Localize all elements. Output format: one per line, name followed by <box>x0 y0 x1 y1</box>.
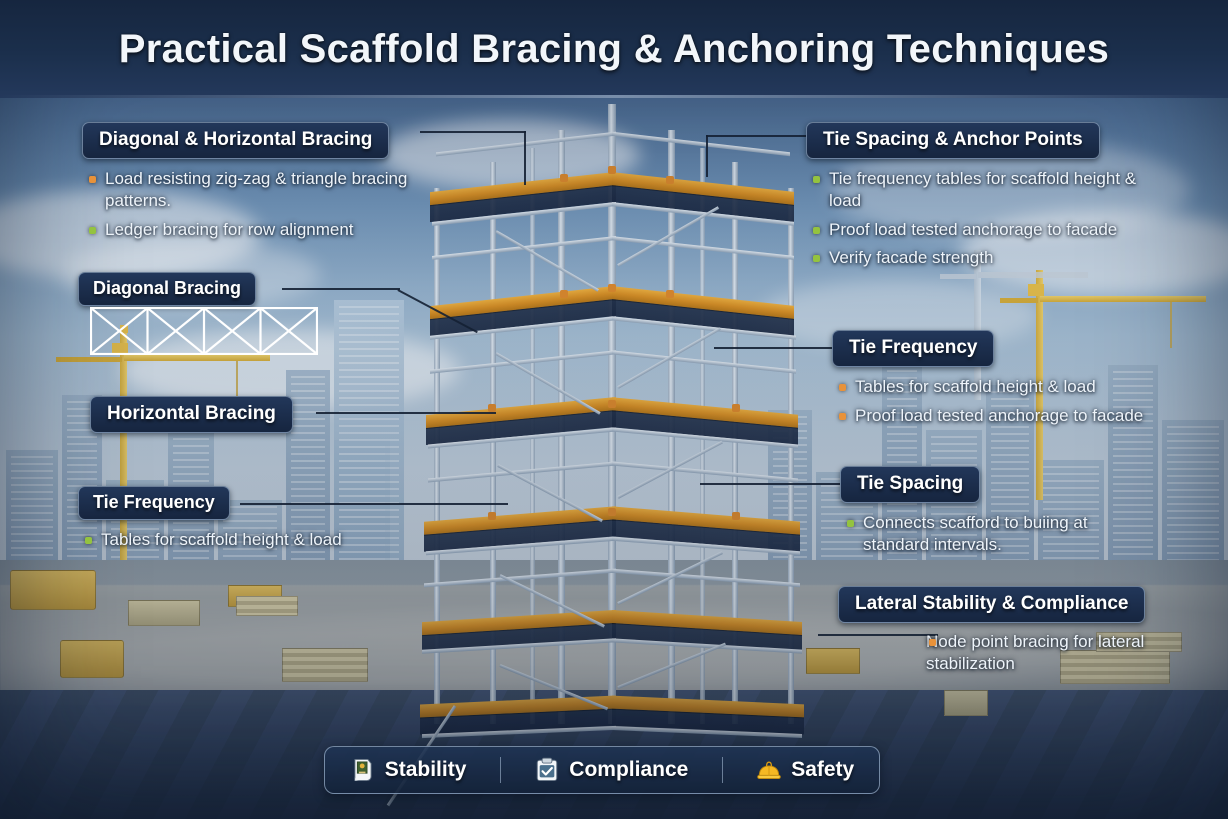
callout-tie-spacing[interactable]: Tie Spacing Connects scafford to buiing … <box>840 466 1144 563</box>
leader-line <box>706 135 812 137</box>
leader-line <box>316 412 496 414</box>
list-item: Verify facade strength <box>810 247 1170 269</box>
callout-bullet-list: Tables for scaffold height & load <box>82 529 342 551</box>
badge-compliance[interactable]: Compliance <box>518 757 704 783</box>
callout-title: Horizontal Bracing <box>90 396 293 433</box>
callout-diagonal-bracing[interactable]: Diagonal Bracing <box>78 272 256 306</box>
callout-title: Tie Spacing <box>840 466 980 503</box>
hard-hat-icon <box>756 757 782 783</box>
infographic-canvas: Practical Scaffold Bracing & Anchoring T… <box>0 0 1228 819</box>
callout-horizontal-bracing[interactable]: Horizontal Bracing <box>90 396 293 433</box>
list-item: Ledger bracing for row alignment <box>86 219 446 241</box>
callout-bullet-list: Node point bracing for lateral stabiliza… <box>926 631 1186 675</box>
divider <box>722 757 723 783</box>
list-item: Node point bracing for lateral stabiliza… <box>926 631 1186 675</box>
list-item: Proof load tested anchorage to facade <box>836 405 1143 427</box>
list-item: Tables for scaffold height & load <box>82 529 342 551</box>
badge-safety[interactable]: Safety <box>740 757 870 783</box>
clipboard-check-icon <box>534 757 560 783</box>
callout-bullet-list: Connects scafford to buiing at standard … <box>844 512 1144 556</box>
badge-label: Safety <box>791 758 854 782</box>
callout-bullet-list: Tie frequency tables for scaffold height… <box>810 168 1170 269</box>
badge-label: Compliance <box>569 758 688 782</box>
footer-badge-bar: Stability Compliance Safety <box>324 746 880 794</box>
callout-bullet-list: Tables for scaffold height & load Proof … <box>836 376 1143 427</box>
badge-stability[interactable]: Stability <box>334 757 483 783</box>
callout-tie-spacing-anchor-points[interactable]: Tie Spacing & Anchor Points Tie frequenc… <box>806 122 1170 276</box>
leader-line <box>524 131 526 185</box>
callout-bullet-list: Load resisting zig-zag & triangle bracin… <box>86 168 446 240</box>
list-item: Tie frequency tables for scaffold height… <box>810 168 1170 212</box>
badge-label: Stability <box>385 758 467 782</box>
list-item: Proof load tested anchorage to facade <box>810 219 1170 241</box>
leader-line <box>706 135 708 177</box>
callout-lateral-stability-compliance[interactable]: Lateral Stability & Compliance Node poin… <box>838 586 1186 682</box>
header-bar: Practical Scaffold Bracing & Anchoring T… <box>0 0 1228 98</box>
leader-line <box>282 288 400 290</box>
list-item: Tables for scaffold height & load <box>836 376 1143 398</box>
x-brace-truss-diagram <box>90 307 318 355</box>
page-title: Practical Scaffold Bracing & Anchoring T… <box>119 27 1109 72</box>
callout-title: Diagonal & Horizontal Bracing <box>82 122 389 159</box>
callout-title: Tie Spacing & Anchor Points <box>806 122 1100 159</box>
divider <box>500 757 501 783</box>
leader-line <box>700 483 842 485</box>
list-item: Connects scafford to buiing at standard … <box>844 512 1144 556</box>
callout-diagonal-horizontal-bracing[interactable]: Diagonal & Horizontal Bracing Load resis… <box>82 122 446 247</box>
callout-tie-frequency-left[interactable]: Tie Frequency Tables for scaffold height… <box>78 486 342 558</box>
callout-tie-frequency-right[interactable]: Tie Frequency Tables for scaffold height… <box>832 330 1143 434</box>
callout-title: Diagonal Bracing <box>78 272 256 306</box>
callout-title: Lateral Stability & Compliance <box>838 586 1145 623</box>
shield-scroll-icon <box>350 757 376 783</box>
leader-line <box>714 347 834 349</box>
callout-title: Tie Frequency <box>832 330 994 367</box>
list-item: Load resisting zig-zag & triangle bracin… <box>86 168 446 212</box>
callout-title: Tie Frequency <box>78 486 230 520</box>
